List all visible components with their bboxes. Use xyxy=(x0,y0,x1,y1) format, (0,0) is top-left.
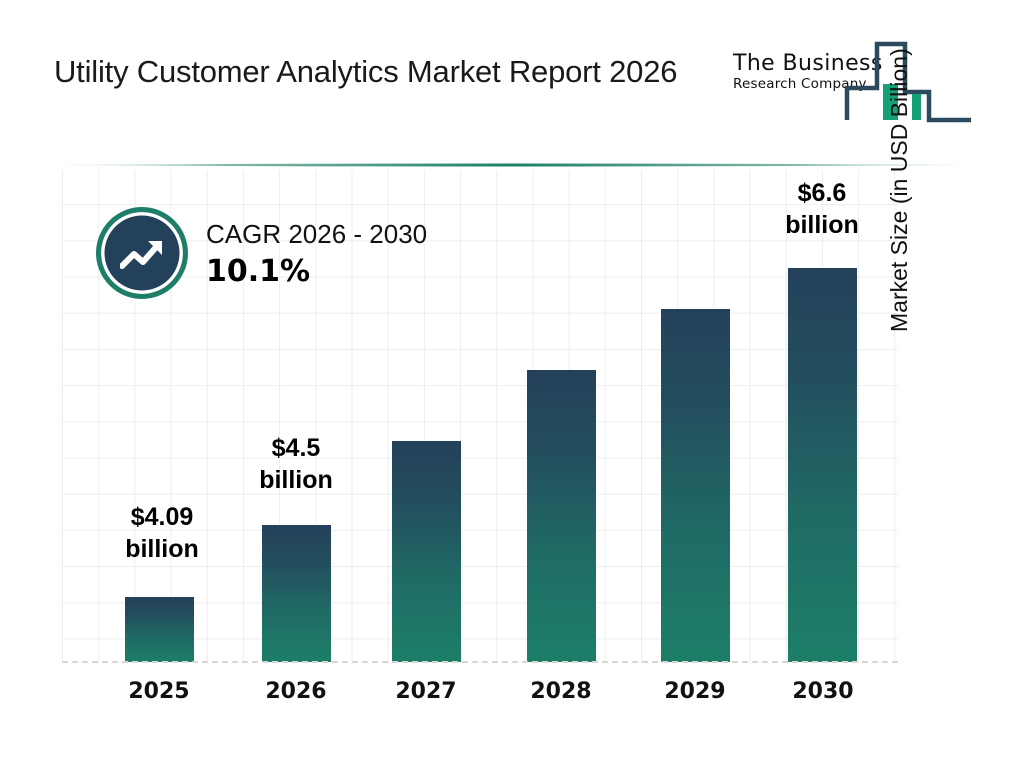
value-label-2030: $6.6 billion xyxy=(762,177,882,241)
xtick-2029: 2029 xyxy=(635,679,755,704)
cagr-value: 10.1% xyxy=(206,251,427,293)
y-axis-label: Market Size (in USD Billion) xyxy=(886,0,913,332)
bar-2028 xyxy=(527,370,596,662)
bar-2029 xyxy=(661,309,730,662)
page-title: Utility Customer Analytics Market Report… xyxy=(54,48,694,95)
bar-2026 xyxy=(262,525,331,662)
cagr-text-block: CAGR 2026 - 2030 10.1% xyxy=(206,217,427,293)
bar-2030 xyxy=(788,268,857,662)
value-label-2025: $4.09 billion xyxy=(102,501,222,565)
bar-2025 xyxy=(125,597,194,662)
cagr-circle xyxy=(96,207,188,299)
trending-up-icon xyxy=(120,238,170,281)
chart-baseline xyxy=(62,661,898,663)
value-label-2025-line2: billion xyxy=(102,533,222,565)
value-label-2025-line1: $4.09 xyxy=(102,501,222,533)
page-header: Utility Customer Analytics Market Report… xyxy=(0,0,1024,150)
value-label-2026: $4.5 billion xyxy=(236,432,356,496)
value-label-2026-line2: billion xyxy=(236,464,356,496)
value-label-2026-line1: $4.5 xyxy=(236,432,356,464)
value-label-2030-line2: billion xyxy=(762,209,882,241)
xtick-2025: 2025 xyxy=(99,679,219,704)
header-divider xyxy=(34,155,990,161)
xtick-2026: 2026 xyxy=(236,679,356,704)
xtick-2027: 2027 xyxy=(366,679,486,704)
xtick-2028: 2028 xyxy=(501,679,621,704)
cagr-period-label: CAGR 2026 - 2030 xyxy=(206,217,427,251)
cagr-badge: CAGR 2026 - 2030 10.1% xyxy=(96,205,516,311)
bar-2027 xyxy=(392,441,461,662)
value-label-2030-line1: $6.6 xyxy=(762,177,882,209)
xtick-2030: 2030 xyxy=(763,679,883,704)
company-logo: The Business Research Company xyxy=(715,32,975,132)
